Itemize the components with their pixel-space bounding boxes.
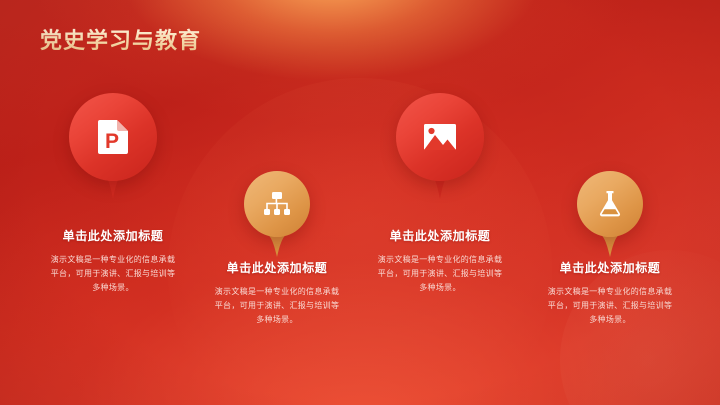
pin-circle-2[interactable] (244, 171, 310, 237)
item-title-1: 单击此处添加标题 (18, 228, 208, 244)
item-body-line: 多种场景。 (515, 313, 705, 327)
image-photo-icon (424, 124, 456, 150)
powerpoint-file-icon: P (98, 120, 128, 154)
pin-circle-1[interactable]: P (69, 93, 157, 181)
page-title: 党史学习与教育 (40, 28, 201, 54)
pin-circle-3[interactable] (396, 93, 484, 181)
item-body-1: 演示文稿是一种专业化的信息承载 平台，可用于演讲、汇报与培训等 多种场景。 (18, 253, 208, 295)
text-block-3: 单击此处添加标题 演示文稿是一种专业化的信息承载 平台，可用于演讲、汇报与培训等… (345, 228, 535, 295)
item-title-4: 单击此处添加标题 (515, 260, 705, 276)
item-body-2: 演示文稿是一种专业化的信息承载 平台，可用于演讲、汇报与培训等 多种场景。 (182, 285, 372, 327)
item-body-line: 平台，可用于演讲、汇报与培训等 (182, 299, 372, 313)
text-block-4: 单击此处添加标题 演示文稿是一种专业化的信息承载 平台，可用于演讲、汇报与培训等… (515, 260, 705, 327)
item-body-line: 演示文稿是一种专业化的信息承载 (345, 253, 535, 267)
item-body-line: 演示文稿是一种专业化的信息承载 (515, 285, 705, 299)
item-body-3: 演示文稿是一种专业化的信息承载 平台，可用于演讲、汇报与培训等 多种场景。 (345, 253, 535, 295)
item-body-line: 平台，可用于演讲、汇报与培训等 (345, 267, 535, 281)
item-body-line: 平台，可用于演讲、汇报与培训等 (515, 299, 705, 313)
background-glow-bottom-left (0, 300, 132, 405)
item-body-line: 多种场景。 (182, 313, 372, 327)
item-body-line: 演示文稿是一种专业化的信息承载 (18, 253, 208, 267)
pin-circle-4[interactable] (577, 171, 643, 237)
item-title-2: 单击此处添加标题 (182, 260, 372, 276)
item-body-line: 多种场景。 (345, 281, 535, 295)
svg-text:P: P (105, 130, 119, 153)
text-block-2: 单击此处添加标题 演示文稿是一种专业化的信息承载 平台，可用于演讲、汇报与培训等… (182, 260, 372, 327)
item-body-line: 多种场景。 (18, 281, 208, 295)
slide-canvas: 党史学习与教育 P 单击此处添加标题 演示文稿是一种专业化的信息承载 (0, 0, 720, 405)
item-body-line: 平台，可用于演讲、汇报与培训等 (18, 267, 208, 281)
item-title-3: 单击此处添加标题 (345, 228, 535, 244)
text-block-1: 单击此处添加标题 演示文稿是一种专业化的信息承载 平台，可用于演讲、汇报与培训等… (18, 228, 208, 295)
item-body-4: 演示文稿是一种专业化的信息承载 平台，可用于演讲、汇报与培训等 多种场景。 (515, 285, 705, 327)
item-body-line: 演示文稿是一种专业化的信息承载 (182, 285, 372, 299)
org-chart-icon (264, 192, 290, 216)
flask-beaker-icon (599, 191, 621, 217)
